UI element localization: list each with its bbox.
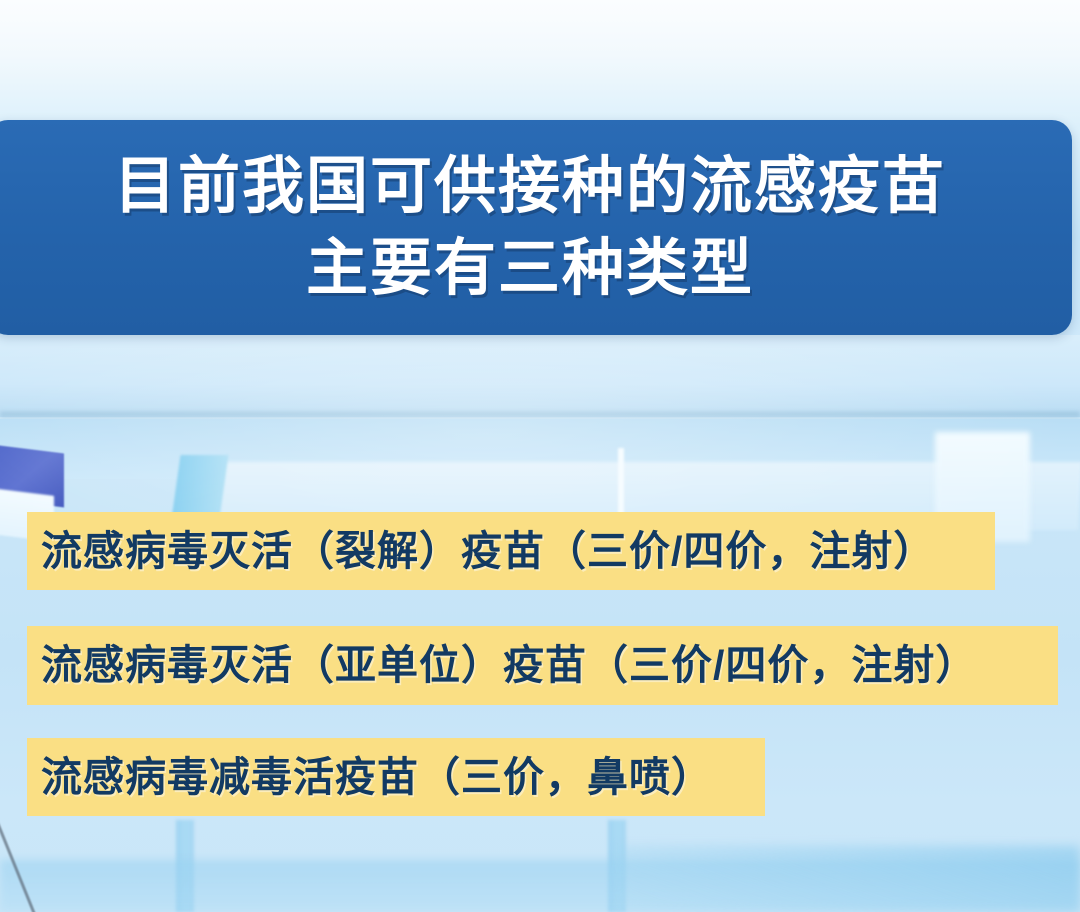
vaccine-item-2-label: 流感病毒灭活（亚单位）疫苗（三价/四价，注射） (41, 645, 977, 686)
vaccine-item-1-label: 流感病毒灭活（裂解）疫苗（三价/四价，注射） (41, 531, 935, 572)
background-ceiling-edge (0, 412, 1080, 419)
title-banner: 目前我国可供接种的流感疫苗 主要有三种类型 (0, 120, 1072, 335)
title-line-1: 目前我国可供接种的流感疫苗 (114, 152, 946, 221)
vaccine-item-1: 流感病毒灭活（裂解）疫苗（三价/四价，注射） (27, 512, 995, 590)
title-line-2: 主要有三种类型 (306, 234, 754, 303)
vaccine-item-3: 流感病毒减毒活疫苗（三价，鼻喷） (27, 738, 765, 816)
background-ceiling-band (0, 335, 1080, 417)
background-floor-right (620, 846, 1080, 912)
vaccine-item-3-label: 流感病毒减毒活疫苗（三价，鼻喷） (41, 757, 713, 798)
infographic-poster: 目前我国可供接种的流感疫苗 主要有三种类型 流感病毒灭活（裂解）疫苗（三价/四价… (0, 0, 1080, 912)
vaccine-item-2: 流感病毒灭活（亚单位）疫苗（三价/四价，注射） (27, 626, 1058, 705)
